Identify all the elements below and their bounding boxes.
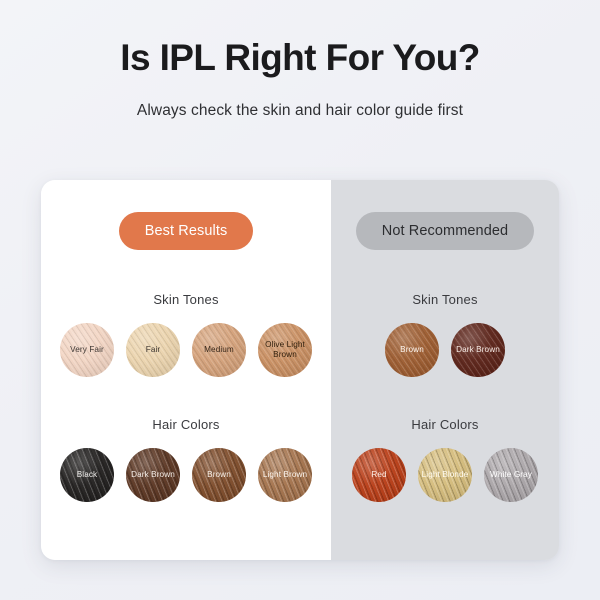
- swatch-label: Black: [74, 470, 101, 480]
- swatch-dark-brown-skin[interactable]: Dark Brown: [451, 323, 505, 377]
- swatch-fair[interactable]: Fair: [126, 323, 180, 377]
- swatch-olive-light-brown[interactable]: Olive Light Brown: [258, 323, 312, 377]
- swatch-label: Olive Light Brown: [258, 340, 312, 360]
- swatch-label: Medium: [201, 345, 237, 355]
- swatch-label: Light Blonde: [419, 470, 472, 480]
- swatch-medium[interactable]: Medium: [192, 323, 246, 377]
- swatch-row-hair-colors-best: Black Dark Brown Brown Light Brown: [41, 448, 331, 502]
- page-title: Is IPL Right For You?: [0, 38, 600, 79]
- swatch-label: Red: [368, 470, 389, 480]
- swatch-row-hair-colors-not: Red Light Blonde White Gray: [331, 448, 559, 502]
- panel-not-recommended: Not Recommended Skin Tones Brown Dark Br…: [331, 180, 559, 560]
- section-title-skin-tones-best: Skin Tones: [41, 292, 331, 307]
- swatch-label: White Gray: [487, 470, 535, 480]
- section-title-hair-colors-best: Hair Colors: [41, 417, 331, 432]
- swatch-label: Fair: [143, 345, 164, 355]
- swatch-row-skin-tones-not: Brown Dark Brown: [331, 323, 559, 377]
- swatch-label: Light Brown: [260, 470, 310, 480]
- comparison-card: Best Results Skin Tones Very Fair Fair M…: [41, 180, 559, 560]
- swatch-light-brown-hair[interactable]: Light Brown: [258, 448, 312, 502]
- swatch-black[interactable]: Black: [60, 448, 114, 502]
- swatch-red[interactable]: Red: [352, 448, 406, 502]
- page-header: Is IPL Right For You? Always check the s…: [0, 0, 600, 120]
- badge-row-best: Best Results: [41, 180, 331, 250]
- swatch-row-skin-tones-best: Very Fair Fair Medium Olive Light Brown: [41, 323, 331, 377]
- badge-best-results[interactable]: Best Results: [119, 212, 254, 250]
- swatch-label: Dark Brown: [453, 345, 503, 355]
- panel-best-results: Best Results Skin Tones Very Fair Fair M…: [41, 180, 331, 560]
- badge-not-recommended[interactable]: Not Recommended: [356, 212, 534, 250]
- swatch-white-gray[interactable]: White Gray: [484, 448, 538, 502]
- swatch-label: Brown: [397, 345, 427, 355]
- swatch-brown-hair[interactable]: Brown: [192, 448, 246, 502]
- badge-row-not-recommended: Not Recommended: [331, 180, 559, 250]
- section-title-skin-tones-not: Skin Tones: [331, 292, 559, 307]
- swatch-label: Very Fair: [67, 345, 107, 355]
- swatch-label: Dark Brown: [128, 470, 178, 480]
- swatch-dark-brown-hair[interactable]: Dark Brown: [126, 448, 180, 502]
- swatch-light-blonde[interactable]: Light Blonde: [418, 448, 472, 502]
- swatch-brown-skin[interactable]: Brown: [385, 323, 439, 377]
- page-subtitle: Always check the skin and hair color gui…: [0, 102, 600, 120]
- swatch-very-fair[interactable]: Very Fair: [60, 323, 114, 377]
- swatch-label: Brown: [204, 470, 234, 480]
- section-title-hair-colors-not: Hair Colors: [331, 417, 559, 432]
